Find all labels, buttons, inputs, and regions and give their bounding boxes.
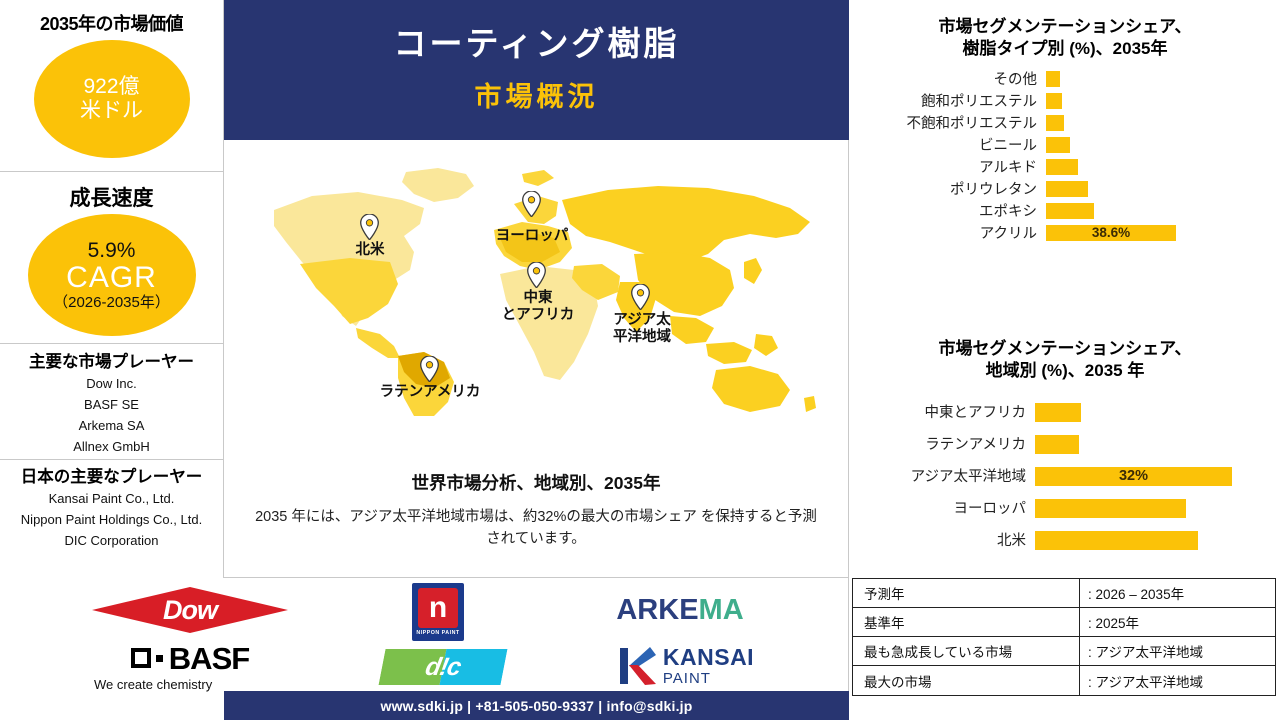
key-player-item: Arkema SA [0, 415, 223, 436]
bar-category-label: ポリウレタン [850, 178, 1046, 199]
infographic-page: 2035年の市場価値 922億 米ドル 成長速度 5.9% CAGR （2026… [0, 0, 1280, 720]
bar-track [1035, 492, 1280, 524]
table-value: : アジア太平洋地域 [1080, 666, 1275, 695]
japan-player-item: DIC Corporation [0, 530, 223, 551]
bar-track [1035, 396, 1280, 428]
page-subtitle: 市場概況 [475, 75, 599, 114]
table-row: 予測年 : 2026 – 2035年 [853, 579, 1275, 608]
bar-category-label: ヨーロッパ [850, 497, 1035, 518]
logo-kansai-paint: KANSAI PAINT [590, 644, 780, 688]
map-caption-title: 世界市場分析、地域別、2035年 [224, 470, 848, 495]
map-pin-middle-east-africa-icon [527, 262, 546, 288]
bar-row: アクリル38.6% [850, 222, 1280, 244]
key-player-item: BASF SE [0, 394, 223, 415]
dow-registered-icon: ® [230, 622, 236, 631]
left-stats-column: 2035年の市場価値 922億 米ドル 成長速度 5.9% CAGR （2026… [0, 0, 224, 578]
bar-track [1046, 156, 1280, 178]
bar-row: アルキド [850, 156, 1280, 178]
basf-square-icon [131, 648, 151, 668]
bar [1046, 159, 1078, 175]
market-value-oval: 922億 米ドル [34, 40, 190, 158]
cagr-period: （2026-2035年） [53, 294, 170, 311]
kansai-line1: KANSAI [663, 646, 754, 669]
bar-row: ヨーロッパ [850, 492, 1280, 524]
chart2-title-line2: 地域別 (%)、2035 年 [850, 360, 1280, 382]
chart1-title-line1: 市場セグメンテーションシェア、 [850, 16, 1280, 38]
page-header: コーティング樹脂 市場概況 [224, 0, 849, 140]
bar [1046, 93, 1062, 109]
key-player-item: Allnex GmbH [0, 436, 223, 457]
bar-row: その他 [850, 68, 1280, 90]
bar-track [1046, 90, 1280, 112]
arkema-wordmark-part2: MA [699, 594, 744, 626]
basf-row: BASF [131, 643, 249, 674]
chart-resin-type-segmentation: 市場セグメンテーションシェア、 樹脂タイプ別 (%)、2035年 その他飽和ポリ… [850, 16, 1280, 244]
bar-row: ポリウレタン [850, 178, 1280, 200]
market-value-title: 2035年の市場価値 [0, 10, 223, 36]
dic-shape: d!c [378, 649, 507, 685]
nippon-letter: n [418, 588, 458, 628]
company-logos-panel: Dow ® n NIPPON PAINT ARKEMA BASF We crea… [0, 578, 849, 691]
map-label-middle-east-africa: 中東 とアフリカ [494, 290, 582, 323]
bar [1035, 499, 1186, 518]
chart1-title-line2: 樹脂タイプ別 (%)、2035年 [850, 38, 1280, 60]
footer-contact-text: www.sdki.jp | +81-505-050-9337 | info@sd… [380, 698, 692, 714]
table-row: 最も急成長している市場 : アジア太平洋地域 [853, 637, 1275, 666]
bar-row: ビニール [850, 134, 1280, 156]
bar-row: 中東とアフリカ [850, 396, 1280, 428]
map-pin-europe-icon [522, 191, 541, 217]
kansai-line2: PAINT [663, 671, 754, 686]
bar-track [1046, 68, 1280, 90]
dow-wordmark: Dow [163, 595, 217, 626]
bar-track [1035, 428, 1280, 460]
table-value: : 2025年 [1080, 608, 1275, 636]
summary-info-table: 予測年 : 2026 – 2035年 基準年 : 2025年 最も急成長している… [852, 578, 1276, 696]
market-value-currency: 米ドル [80, 99, 143, 123]
table-key: 基準年 [853, 608, 1080, 636]
bar [1046, 181, 1088, 197]
bar-category-label: エポキシ [850, 200, 1046, 221]
chart2-title-line1: 市場セグメンテーションシェア、 [850, 338, 1280, 360]
table-key: 予測年 [853, 579, 1080, 607]
key-players-title: 主要な市場プレーヤー [0, 348, 223, 372]
key-player-item: Dow Inc. [0, 373, 223, 394]
bar-row: ラテンアメリカ [850, 428, 1280, 460]
table-value: : 2026 – 2035年 [1080, 579, 1275, 607]
chart2-bars: 中東とアフリカラテンアメリカアジア太平洋地域32%ヨーロッパ北米 [850, 396, 1280, 556]
bar-track: 32% [1035, 460, 1280, 492]
bar-row: アジア太平洋地域32% [850, 460, 1280, 492]
growth-rate-title: 成長速度 [0, 182, 223, 212]
chart-region-segmentation: 市場セグメンテーションシェア、 地域別 (%)、2035 年 中東とアフリカラテ… [850, 338, 1280, 556]
bar [1046, 71, 1060, 87]
bar-row: 北米 [850, 524, 1280, 556]
map-pin-asia-pacific-icon [631, 284, 650, 310]
table-row: 基準年 : 2025年 [853, 608, 1275, 637]
bar [1035, 435, 1079, 454]
table-row: 最大の市場 : アジア太平洋地域 [853, 666, 1275, 695]
dow-diamond-shape: Dow ® [92, 587, 288, 633]
logo-arkema: ARKEMA [600, 592, 760, 628]
key-players-cell: 主要な市場プレーヤー Dow Inc. BASF SE Arkema SA Al… [0, 344, 223, 460]
bar-row: 不飽和ポリエステル [850, 112, 1280, 134]
basf-wordmark: BASF [169, 643, 249, 674]
bar-category-label: アクリル [850, 222, 1046, 243]
bar-value-label: 38.6% [1046, 225, 1176, 241]
logo-basf: BASF We create chemistry [92, 646, 288, 688]
table-key: 最大の市場 [853, 666, 1080, 695]
arkema-wordmark: ARKEMA [616, 596, 743, 625]
dic-wordmark: d!c [378, 649, 507, 685]
bar-category-label: その他 [850, 68, 1046, 89]
footer-bar: www.sdki.jp | +81-505-050-9337 | info@sd… [224, 691, 849, 720]
japan-players-cell: 日本の主要なプレーヤー Kansai Paint Co., Ltd. Nippo… [0, 460, 223, 578]
bar-track: 38.6% [1046, 222, 1280, 244]
cagr-percent: 5.9% [88, 239, 136, 262]
map-label-north-america: 北米 [344, 242, 396, 259]
bar-category-label: ラテンアメリカ [850, 433, 1035, 454]
bar [1046, 115, 1064, 131]
basf-tagline: We create chemistry [94, 677, 212, 692]
arkema-wordmark-part1: ARKE [616, 594, 698, 626]
bar [1046, 203, 1094, 219]
growth-rate-oval: 5.9% CAGR （2026-2035年） [28, 214, 196, 336]
japan-player-item: Nippon Paint Holdings Co., Ltd. [0, 509, 223, 530]
bar-track [1046, 112, 1280, 134]
bar-track [1035, 524, 1280, 556]
bar-category-label: 中東とアフリカ [850, 401, 1035, 422]
nippon-caption: NIPPON PAINT [416, 630, 459, 636]
bar-value-label: 32% [1035, 467, 1232, 486]
map-label-latin-america: ラテンアメリカ [362, 384, 498, 401]
chart1-title: 市場セグメンテーションシェア、 樹脂タイプ別 (%)、2035年 [850, 16, 1280, 60]
world-map: 北米 ヨーロッパ 中東 とアフリカ アジア太 平洋地域 ラテンアメリカ [238, 166, 836, 416]
bar-row: エポキシ [850, 200, 1280, 222]
nippon-badge: n NIPPON PAINT [412, 583, 464, 641]
bar-category-label: 不飽和ポリエステル [850, 112, 1046, 133]
logo-dow: Dow ® [92, 586, 288, 634]
bar-category-label: アルキド [850, 156, 1046, 177]
bar-track [1046, 178, 1280, 200]
basf-dot-icon [156, 655, 163, 662]
table-value: : アジア太平洋地域 [1080, 637, 1275, 665]
kansai-k-icon [616, 646, 656, 686]
map-label-europe: ヨーロッパ [483, 228, 581, 245]
table-key: 最も急成長している市場 [853, 637, 1080, 665]
cagr-label: CAGR [66, 262, 157, 294]
bar-track [1046, 134, 1280, 156]
market-value-amount: 922億 [83, 75, 139, 99]
japan-player-item: Kansai Paint Co., Ltd. [0, 488, 223, 509]
map-label-asia-pacific: アジア太 平洋地域 [600, 312, 684, 345]
chart1-bars: その他飽和ポリエステル不飽和ポリエステルビニールアルキドポリウレタンエポキシアク… [850, 68, 1280, 244]
map-caption-body: 2035 年には、アジア太平洋地域市場は、約32%の最大の市場シェア を保持する… [248, 506, 824, 551]
page-title: コーティング樹脂 [393, 26, 679, 62]
market-value-cell: 2035年の市場価値 922億 米ドル [0, 0, 223, 172]
japan-players-title: 日本の主要なプレーヤー [0, 463, 223, 487]
map-pin-latin-america-icon [420, 356, 439, 382]
chart2-title: 市場セグメンテーションシェア、 地域別 (%)、2035 年 [850, 338, 1280, 382]
bar [1046, 137, 1070, 153]
bar-track [1046, 200, 1280, 222]
bar-category-label: ビニール [850, 134, 1046, 155]
map-pin-north-america-icon [360, 214, 379, 240]
logo-dic: d!c [380, 648, 505, 686]
bar-row: 飽和ポリエステル [850, 90, 1280, 112]
bar-category-label: 北米 [850, 529, 1035, 550]
bar [1035, 531, 1198, 550]
bar-category-label: 飽和ポリエステル [850, 90, 1046, 111]
world-map-panel: 北米 ヨーロッパ 中東 とアフリカ アジア太 平洋地域 ラテンアメリカ 世界市場… [224, 140, 849, 578]
growth-rate-cell: 成長速度 5.9% CAGR （2026-2035年） [0, 172, 223, 344]
logo-nippon-paint: n NIPPON PAINT [410, 581, 466, 643]
bar-category-label: アジア太平洋地域 [850, 465, 1035, 486]
bar [1035, 403, 1081, 422]
kansai-wordmark: KANSAI PAINT [663, 646, 754, 686]
